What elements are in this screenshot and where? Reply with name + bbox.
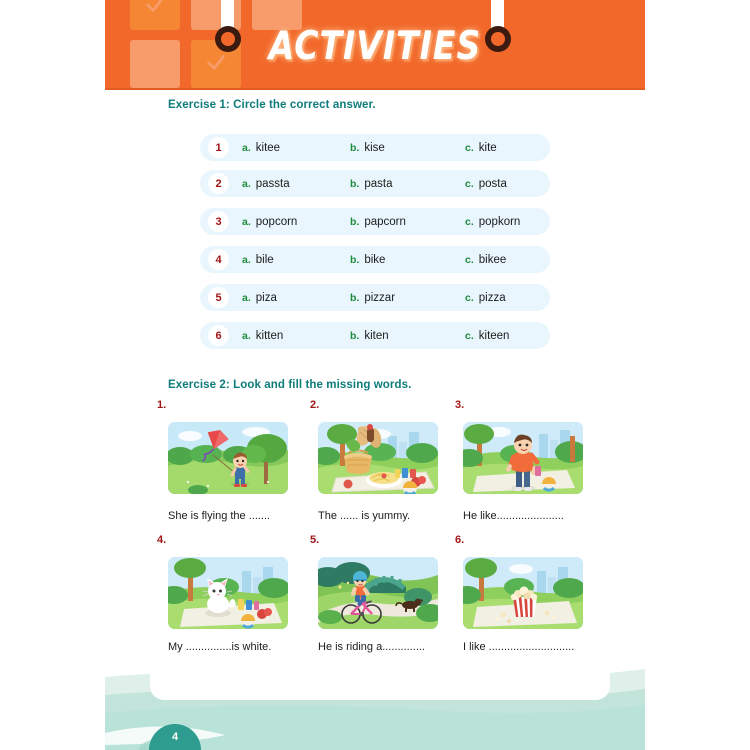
exercise2-heading: Exercise 2: Look and fill the missing wo…: [168, 379, 411, 391]
option-letter: b.: [350, 292, 359, 304]
picture-caption: She is flying the .......: [168, 510, 270, 522]
option-letter: b.: [350, 216, 359, 228]
page-footer: 4: [105, 655, 645, 750]
page-title-text: ACTIVITIES: [269, 22, 481, 68]
option-a[interactable]: a. kitee: [242, 134, 280, 161]
option-c[interactable]: c. popkorn: [465, 208, 520, 235]
question-number: 5: [215, 292, 221, 304]
option-word: passta: [256, 178, 290, 190]
option-b[interactable]: b. kise: [350, 134, 385, 161]
question-number-badge: 6: [208, 325, 229, 346]
picture-caption: My ...............is white.: [168, 641, 271, 653]
option-word: kiten: [364, 330, 388, 342]
question-number-badge: 2: [208, 173, 229, 194]
question-number: 2: [215, 178, 221, 190]
option-letter: c.: [465, 254, 474, 266]
option-letter: a.: [242, 216, 251, 228]
option-letter: c.: [465, 292, 474, 304]
option-word: pasta: [364, 178, 392, 190]
question-row[interactable]: 4 a. bile b. bike c. bikee: [200, 246, 550, 273]
option-letter: b.: [350, 178, 359, 190]
picture-caption: The ...... is yummy.: [318, 510, 410, 522]
picture-popcorn-bucket[interactable]: [463, 557, 583, 629]
question-row[interactable]: 1 a. kitee b. kise c. kite: [200, 134, 550, 161]
picture-white-kitten[interactable]: [168, 557, 288, 629]
worksheet-page: ACTIVITIES Exercise 1: Circle the correc…: [105, 0, 645, 750]
picture-picnic-pasta[interactable]: [318, 422, 438, 494]
option-word: kitee: [256, 142, 280, 154]
question-number-badge: 3: [208, 211, 229, 232]
question-number: 3: [215, 216, 221, 228]
picture-caption: He like......................: [463, 510, 564, 522]
option-c[interactable]: c. kiteen: [465, 322, 509, 349]
picture-number: 5.: [310, 534, 319, 546]
option-c[interactable]: c. posta: [465, 170, 507, 197]
question-row[interactable]: 5 a. piza b. pizzar c. pizza: [200, 284, 550, 311]
option-word: kise: [364, 142, 384, 154]
option-word: pizza: [479, 292, 506, 304]
question-row[interactable]: 3 a. popcorn b. papcorn c. popkorn: [200, 208, 550, 235]
option-b[interactable]: b. papcorn: [350, 208, 406, 235]
option-letter: c.: [465, 142, 474, 154]
header-bottom-divider: [105, 88, 645, 90]
question-number-badge: 5: [208, 287, 229, 308]
option-a[interactable]: a. piza: [242, 284, 277, 311]
option-b[interactable]: b. bike: [350, 246, 385, 273]
option-letter: c.: [465, 178, 474, 190]
option-letter: a.: [242, 142, 251, 154]
picture-caption: I like ............................: [463, 641, 574, 653]
option-word: pizzar: [364, 292, 395, 304]
picture-number: 1.: [157, 399, 166, 411]
question-row[interactable]: 6 a. kitten b. kiten c. kiteen: [200, 322, 550, 349]
option-word: kitten: [256, 330, 284, 342]
option-word: piza: [256, 292, 277, 304]
option-a[interactable]: a. passta: [242, 170, 290, 197]
picture-boy-flying-kite[interactable]: [168, 422, 288, 494]
option-word: kiteen: [479, 330, 510, 342]
option-word: kite: [479, 142, 497, 154]
option-letter: c.: [465, 216, 474, 228]
option-a[interactable]: a. popcorn: [242, 208, 297, 235]
option-letter: a.: [242, 178, 251, 190]
picture-caption: He is riding a..............: [318, 641, 425, 653]
option-word: bile: [256, 254, 274, 266]
option-word: papcorn: [364, 216, 406, 228]
option-letter: b.: [350, 330, 359, 342]
exercise1-heading: Exercise 1: Circle the correct answer.: [168, 99, 376, 111]
option-b[interactable]: b. pizzar: [350, 284, 395, 311]
option-letter: c.: [465, 330, 474, 342]
page-header: ACTIVITIES: [105, 0, 645, 90]
question-row[interactable]: 2 a. passta b. pasta c. posta: [200, 170, 550, 197]
picture-child-riding-bicycle[interactable]: [318, 557, 438, 629]
option-letter: b.: [350, 254, 359, 266]
picture-number: 3.: [455, 399, 464, 411]
question-number: 6: [215, 330, 221, 342]
option-word: popkorn: [479, 216, 521, 228]
option-a[interactable]: a. kitten: [242, 322, 283, 349]
question-number: 1: [215, 142, 221, 154]
option-c[interactable]: c. bikee: [465, 246, 506, 273]
option-word: posta: [479, 178, 507, 190]
content-card-bottom: [150, 655, 610, 700]
option-word: popcorn: [256, 216, 298, 228]
option-word: bikee: [479, 254, 507, 266]
option-letter: a.: [242, 330, 251, 342]
page-number: 4: [172, 731, 178, 744]
picture-number: 4.: [157, 534, 166, 546]
option-letter: b.: [350, 142, 359, 154]
option-letter: a.: [242, 254, 251, 266]
picture-number: 6.: [455, 534, 464, 546]
question-number-badge: 4: [208, 249, 229, 270]
page-title: ACTIVITIES: [105, 0, 645, 90]
option-a[interactable]: a. bile: [242, 246, 274, 273]
picture-number: 2.: [310, 399, 319, 411]
option-b[interactable]: b. kiten: [350, 322, 389, 349]
option-c[interactable]: c. kite: [465, 134, 497, 161]
question-number-badge: 1: [208, 137, 229, 158]
option-letter: a.: [242, 292, 251, 304]
option-word: bike: [364, 254, 385, 266]
option-c[interactable]: c. pizza: [465, 284, 506, 311]
picture-boy-eating-pizza[interactable]: [463, 422, 583, 494]
option-b[interactable]: b. pasta: [350, 170, 392, 197]
question-number: 4: [215, 254, 221, 266]
